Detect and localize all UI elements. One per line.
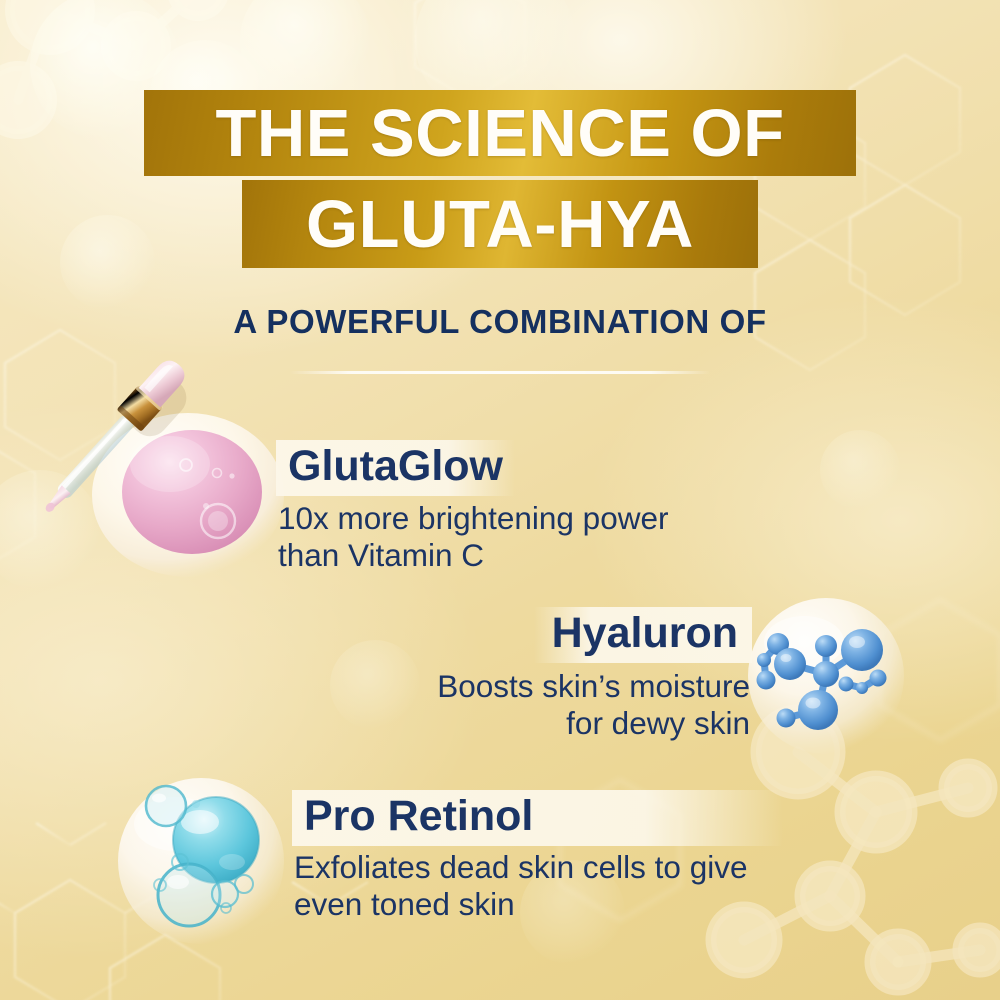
divider-line (290, 371, 710, 374)
heading-banner-line-2: GLUTA-HYA (242, 180, 758, 268)
subtitle-text: A POWERFUL COMBINATION OF (0, 303, 1000, 341)
ingredient-title-pro-retinol: Pro Retinol (292, 790, 783, 846)
bokeh-light (60, 215, 155, 310)
blue-molecule-sphere-icon (742, 592, 910, 760)
pink-serum-droplet-with-dropper-icon (10, 340, 300, 590)
ingredient-title-glutaglow: GlutaGlow (276, 440, 515, 496)
poster-canvas: THE SCIENCE OF GLUTA-HYA A POWERFUL COMB… (0, 0, 1000, 1000)
bokeh-light (330, 640, 420, 730)
heading-text-line-2: GLUTA-HYA (306, 186, 694, 263)
bokeh-light (820, 430, 900, 510)
ingredient-description-glutaglow: 10x more brightening power than Vitamin … (278, 500, 668, 573)
ingredient-description-hyaluron: Boosts skin’s moisture for dewy skin (437, 668, 750, 741)
heading-banner-line-1: THE SCIENCE OF (144, 90, 856, 176)
heading-text-line-1: THE SCIENCE OF (215, 95, 784, 172)
ingredient-description-pro-retinol: Exfoliates dead skin cells to give even … (294, 849, 748, 922)
ingredient-title-hyaluron: Hyaluron (534, 607, 752, 663)
teal-bubbles-sphere-icon (112, 772, 290, 950)
